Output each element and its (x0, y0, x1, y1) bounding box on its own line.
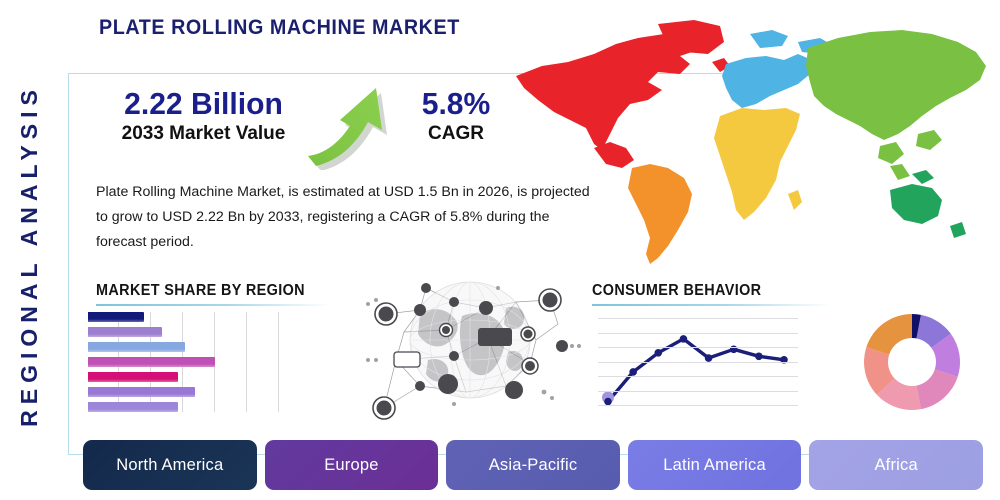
line-chart-gridline (598, 376, 798, 377)
region-pill-label: Africa (874, 456, 917, 475)
region-pill-label: Latin America (663, 456, 766, 475)
bar-chart-row (88, 342, 288, 352)
region-pill-label: Europe (324, 456, 378, 475)
line-chart-gridlines (598, 310, 798, 415)
regional-analysis-side-label: REGIONAL ANALYSIS (6, 55, 52, 455)
region-pill-latin-america[interactable]: Latin America (628, 440, 802, 490)
bar-chart-bar (88, 387, 195, 397)
bar-chart-row (88, 402, 288, 412)
market-share-section-header: MARKET SHARE BY REGION (96, 282, 331, 306)
side-label-text: REGIONAL ANALYSIS (16, 84, 43, 427)
bar-chart-row (88, 327, 288, 337)
page-title: PLATE ROLLING MACHINE MARKET (99, 16, 460, 40)
region-pill-asia-pacific[interactable]: Asia-Pacific (446, 440, 620, 490)
market-share-rule (96, 304, 331, 306)
bar-chart-bar (88, 402, 178, 412)
bar-chart-row (88, 387, 288, 397)
donut-segment (866, 314, 912, 355)
cagr-number: 5.8% (398, 88, 514, 121)
world-map-icon (498, 8, 998, 266)
line-chart-gridline (598, 391, 798, 392)
market-value-number: 2.22 Billion (99, 88, 308, 121)
donut-segment (916, 369, 957, 409)
market-share-title: MARKET SHARE BY REGION (96, 282, 315, 300)
segment-donut-chart (860, 310, 964, 414)
line-chart-gridline (598, 318, 798, 319)
consumer-behavior-rule (592, 304, 832, 306)
market-value-stat: 2.22 Billion 2033 Market Value (96, 88, 311, 144)
consumer-behavior-title: CONSUMER BEHAVIOR (592, 282, 815, 300)
region-pill-north-america[interactable]: North America (83, 440, 257, 490)
global-network-globe-icon (358, 268, 582, 423)
region-pill-europe[interactable]: Europe (265, 440, 439, 490)
region-pill-label: North America (116, 456, 223, 475)
bar-chart-bar (88, 342, 185, 352)
region-pill-africa[interactable]: Africa (809, 440, 983, 490)
bar-chart-bars (88, 312, 288, 412)
bar-chart-row (88, 312, 288, 322)
market-share-bar-chart (88, 312, 288, 412)
consumer-behavior-section-header: CONSUMER BEHAVIOR (592, 282, 832, 306)
bar-chart-bar (88, 312, 144, 322)
line-chart-gridline (598, 347, 798, 348)
key-stats: 2.22 Billion 2033 Market Value 5.8% CAGR (96, 88, 516, 168)
bar-chart-bar (88, 372, 178, 382)
market-value-label: 2033 Market Value (96, 123, 311, 145)
infographic-root: REGIONAL ANALYSIS PLATE ROLLING MACHINE … (0, 0, 1000, 500)
line-chart-gridline (598, 405, 798, 406)
region-pill-bar: North AmericaEuropeAsia-PacificLatin Ame… (83, 440, 983, 490)
growth-arrow-icon (304, 82, 404, 170)
bar-chart-bar (88, 357, 215, 367)
bar-chart-row (88, 357, 288, 367)
bar-chart-bar (88, 327, 162, 337)
line-chart-gridline (598, 362, 798, 363)
line-chart-gridline (598, 333, 798, 334)
consumer-behavior-line-chart (598, 310, 798, 415)
bar-chart-row (88, 372, 288, 382)
region-pill-label: Asia-Pacific (489, 456, 578, 475)
